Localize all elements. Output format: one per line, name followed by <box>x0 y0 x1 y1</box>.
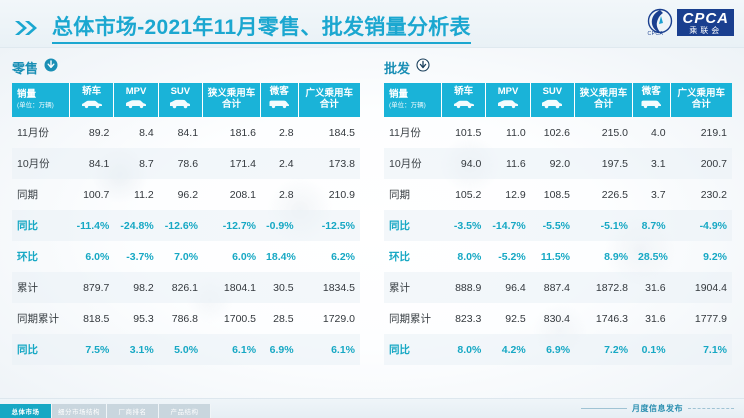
row-label: 11月份 <box>384 117 442 148</box>
table-cell: 8.4 <box>114 117 158 148</box>
panel-label-wholesale: 批发 <box>384 55 732 79</box>
table-cell: 96.2 <box>159 179 203 210</box>
header-cell-minivan: 微客 <box>261 83 299 117</box>
table-cell: 12.9 <box>486 179 530 210</box>
table-cell: -5.2% <box>486 241 530 272</box>
row-label: 同期累计 <box>12 303 70 334</box>
table-cell: 84.1 <box>70 148 114 179</box>
table-cell: 818.5 <box>70 303 114 334</box>
table-cell: 30.5 <box>261 272 299 303</box>
header-cell-broad-pv: 广义乘用车 合计 <box>299 83 360 117</box>
header-narrow-pv-title2: 合计 <box>222 99 241 110</box>
table-cell: 2.4 <box>261 148 299 179</box>
header-sedan-title: 轿车 <box>82 87 101 98</box>
row-label: 10月份 <box>12 148 70 179</box>
header-cell-suv: SUV <box>531 83 575 117</box>
table-cell: 888.9 <box>442 272 486 303</box>
table-cell: 11.5% <box>531 241 575 272</box>
table-row: 同期累计818.595.3786.81700.528.51729.0 <box>12 303 360 334</box>
table-row: 同期累计823.392.5830.41746.331.61777.9 <box>384 303 732 334</box>
suv-icon <box>167 99 193 113</box>
header-band: 总体市场-2021年11月零售、批发销量分析表 CPCA CPCA 乘联会 <box>0 0 744 48</box>
table-cell: -12.5% <box>299 210 360 241</box>
table-cell: 181.6 <box>203 117 261 148</box>
table-cell: 3.7 <box>633 179 671 210</box>
table-cell: 98.2 <box>114 272 158 303</box>
table-cell: 31.6 <box>633 272 671 303</box>
table-cell: -14.7% <box>486 210 530 241</box>
table-row: 同期100.711.296.2208.12.8210.9 <box>12 179 360 210</box>
table-row: 10月份94.011.692.0197.53.1200.7 <box>384 148 732 179</box>
table-cell: -11.4% <box>70 210 114 241</box>
table-row: 同比8.0%4.2%6.9%7.2%0.1%7.1% <box>384 334 732 365</box>
table-cell: 4.2% <box>486 334 530 365</box>
table-cell: 1700.5 <box>203 303 261 334</box>
table-cell: 84.1 <box>159 117 203 148</box>
footer-band: 总体市场细分市场结构厂商排名产品结构 月度信息发布 <box>0 398 744 418</box>
table-cell: 28.5 <box>261 303 299 334</box>
table-retail: 销量 (单位：万辆) 轿车 <box>12 83 360 365</box>
row-label: 同期 <box>12 179 70 210</box>
table-cell: 5.0% <box>159 334 203 365</box>
row-label: 累计 <box>12 272 70 303</box>
table-cell: 826.1 <box>159 272 203 303</box>
footer-tab[interactable]: 厂商排名 <box>107 404 159 418</box>
row-label: 同期累计 <box>384 303 442 334</box>
table-cell: 7.5% <box>70 334 114 365</box>
table-cell: 105.2 <box>442 179 486 210</box>
table-row: 同比-3.5%-14.7%-5.5%-5.1%8.7%-4.9% <box>384 210 732 241</box>
header-sedan-title: 轿车 <box>454 87 473 98</box>
header-cell-minivan: 微客 <box>633 83 671 117</box>
table-cell: -3.7% <box>114 241 158 272</box>
page-title: 总体市场-2021年11月零售、批发销量分析表 <box>14 11 471 44</box>
table-cell: -0.9% <box>261 210 299 241</box>
table-cell: 94.0 <box>442 148 486 179</box>
table-row: 同期105.212.9108.5226.53.7230.2 <box>384 179 732 210</box>
table-cell: -12.6% <box>159 210 203 241</box>
table-row: 11月份89.28.484.1181.62.8184.5 <box>12 117 360 148</box>
cpca-chinese-name: 乘联会 <box>689 27 722 35</box>
table-row: 10月份84.18.778.6171.42.4173.8 <box>12 148 360 179</box>
table-cell: 3.1% <box>114 334 158 365</box>
table-cell: 9.2% <box>671 241 732 272</box>
header-broad-pv-title: 广义乘用车 <box>306 88 354 99</box>
header-cell-suv: SUV <box>159 83 203 117</box>
table-cell: 219.1 <box>671 117 732 148</box>
table-cell: 7.1% <box>671 334 732 365</box>
table-row: 11月份101.511.0102.6215.04.0219.1 <box>384 117 732 148</box>
table-cell: 6.0% <box>203 241 261 272</box>
sedan-icon <box>79 99 105 113</box>
footer-tab[interactable]: 总体市场 <box>0 404 52 418</box>
header-broad-pv-title2: 合计 <box>692 99 711 110</box>
table-row: 环比8.0%-5.2%11.5%8.9%28.5%9.2% <box>384 241 732 272</box>
table-cell: 786.8 <box>159 303 203 334</box>
table-cell: 7.0% <box>159 241 203 272</box>
table-cell: 28.5% <box>633 241 671 272</box>
table-cell: 6.1% <box>299 334 360 365</box>
table-cell: 830.4 <box>531 303 575 334</box>
row-label: 同期 <box>384 179 442 210</box>
cpca-logo-block: CPCA 乘联会 <box>677 9 734 36</box>
row-label: 环比 <box>384 241 442 272</box>
header-suv-title: SUV <box>171 87 191 98</box>
table-cell: 6.2% <box>299 241 360 272</box>
header-cell-sales: 销量 (单位：万辆) <box>12 83 70 117</box>
table-cell: 1904.4 <box>671 272 732 303</box>
row-label: 同比 <box>12 210 70 241</box>
minivan-icon <box>638 99 664 113</box>
header-cell-narrow-pv: 狭义乘用车 合计 <box>203 83 261 117</box>
circle-arrow-down-icon[interactable] <box>44 58 58 77</box>
circle-arrow-down-icon[interactable] <box>416 58 430 77</box>
table-cell: -5.1% <box>575 210 633 241</box>
table-cell: 92.0 <box>531 148 575 179</box>
header-cell-sedan: 轿车 <box>70 83 114 117</box>
row-label: 同比 <box>384 210 442 241</box>
table-cell: 89.2 <box>70 117 114 148</box>
table-cell: 1729.0 <box>299 303 360 334</box>
mpv-icon <box>123 99 149 113</box>
table-cell: 171.4 <box>203 148 261 179</box>
table-cell: 1872.8 <box>575 272 633 303</box>
table-cell: -24.8% <box>114 210 158 241</box>
page-title-text: 总体市场-2021年11月零售、批发销量分析表 <box>52 11 471 44</box>
table-cell: 102.6 <box>531 117 575 148</box>
row-label: 11月份 <box>12 117 70 148</box>
table-cell: 2.8 <box>261 117 299 148</box>
header-suv-title: SUV <box>543 87 563 98</box>
table-cell: 101.5 <box>442 117 486 148</box>
table-cell: 197.5 <box>575 148 633 179</box>
table-row: 环比6.0%-3.7%7.0%6.0%18.4%6.2% <box>12 241 360 272</box>
table-wholesale-header-row: 销量 (单位：万辆) 轿车 <box>384 83 732 117</box>
note-rule-left <box>581 408 627 409</box>
table-cell: 208.1 <box>203 179 261 210</box>
table-cell: 8.7 <box>114 148 158 179</box>
table-cell: 8.7% <box>633 210 671 241</box>
table-cell: 879.7 <box>70 272 114 303</box>
cpca-logo-icon: CPCA <box>647 8 673 36</box>
table-cell: 6.9% <box>531 334 575 365</box>
table-cell: 108.5 <box>531 179 575 210</box>
table-cell: 184.5 <box>299 117 360 148</box>
header-cell-narrow-pv: 狭义乘用车 合计 <box>575 83 633 117</box>
cpca-logo: CPCA CPCA 乘联会 <box>647 8 734 36</box>
header-narrow-pv-title: 狭义乘用车 <box>580 88 628 99</box>
header-minivan-title: 微客 <box>270 87 289 98</box>
header-cell-sales: 销量 (单位：万辆) <box>384 83 442 117</box>
tables-container: 零售 销量 (单位：万辆) <box>0 55 744 365</box>
table-cell: 18.4% <box>261 241 299 272</box>
note-rule-right <box>688 408 734 409</box>
table-cell: -3.5% <box>442 210 486 241</box>
table-cell: -12.7% <box>203 210 261 241</box>
table-retail-body: 11月份89.28.484.1181.62.8184.510月份84.18.77… <box>12 117 360 365</box>
table-cell: 96.4 <box>486 272 530 303</box>
table-cell: 6.1% <box>203 334 261 365</box>
header-sales-unit: (单位：万辆) <box>389 102 440 109</box>
table-cell: 2.8 <box>261 179 299 210</box>
header-cell-sedan: 轿车 <box>442 83 486 117</box>
panel-wholesale: 批发 销量 (单位：万辆) <box>372 55 744 365</box>
table-cell: 8.0% <box>442 241 486 272</box>
footer-note: 月度信息发布 <box>581 403 734 414</box>
header-cell-mpv: MPV <box>486 83 530 117</box>
header-cell-mpv: MPV <box>114 83 158 117</box>
mpv-icon <box>495 99 521 113</box>
table-row: 同比-11.4%-24.8%-12.6%-12.7%-0.9%-12.5% <box>12 210 360 241</box>
table-cell: 1834.5 <box>299 272 360 303</box>
panel-label-wholesale-text: 批发 <box>384 58 410 77</box>
table-cell: 887.4 <box>531 272 575 303</box>
footer-tab[interactable]: 产品结构 <box>159 404 211 418</box>
table-cell: 78.6 <box>159 148 203 179</box>
table-cell: 226.5 <box>575 179 633 210</box>
row-label: 环比 <box>12 241 70 272</box>
table-cell: 173.8 <box>299 148 360 179</box>
double-chevron-right-icon <box>14 19 44 37</box>
table-cell: 11.6 <box>486 148 530 179</box>
header-sales-title: 销量 <box>17 89 36 100</box>
suv-icon <box>539 99 565 113</box>
header-narrow-pv-title: 狭义乘用车 <box>208 88 256 99</box>
table-cell: 100.7 <box>70 179 114 210</box>
table-cell: 200.7 <box>671 148 732 179</box>
panel-label-retail-text: 零售 <box>12 58 38 77</box>
table-cell: 1804.1 <box>203 272 261 303</box>
cpca-acronym: CPCA <box>682 11 729 26</box>
table-cell: 4.0 <box>633 117 671 148</box>
header-sales-unit: (单位：万辆) <box>17 102 68 109</box>
panel-label-retail: 零售 <box>12 55 360 79</box>
table-row: 累计888.996.4887.41872.831.61904.4 <box>384 272 732 303</box>
row-label: 同比 <box>384 334 442 365</box>
table-cell: 3.1 <box>633 148 671 179</box>
table-cell: 92.5 <box>486 303 530 334</box>
table-cell: 1777.9 <box>671 303 732 334</box>
table-cell: 8.0% <box>442 334 486 365</box>
table-cell: 230.2 <box>671 179 732 210</box>
table-cell: -5.5% <box>531 210 575 241</box>
panel-retail: 零售 销量 (单位：万辆) <box>0 55 372 365</box>
table-cell: 823.3 <box>442 303 486 334</box>
table-cell: 31.6 <box>633 303 671 334</box>
row-label: 累计 <box>384 272 442 303</box>
footer-tabs: 总体市场细分市场结构厂商排名产品结构 <box>0 404 211 418</box>
header-mpv-title: MPV <box>126 87 147 98</box>
table-cell: 11.0 <box>486 117 530 148</box>
header-broad-pv-title: 广义乘用车 <box>678 88 726 99</box>
cpca-logo-sub: CPCA <box>647 31 663 37</box>
header-cell-broad-pv: 广义乘用车 合计 <box>671 83 732 117</box>
table-row: 同比7.5%3.1%5.0%6.1%6.9%6.1% <box>12 334 360 365</box>
table-cell: 6.0% <box>70 241 114 272</box>
table-cell: 7.2% <box>575 334 633 365</box>
row-label: 10月份 <box>384 148 442 179</box>
slide-root: 总体市场-2021年11月零售、批发销量分析表 CPCA CPCA 乘联会 零售 <box>0 0 744 418</box>
header-minivan-title: 微客 <box>642 87 661 98</box>
footer-tab[interactable]: 细分市场结构 <box>52 404 107 418</box>
table-cell: 215.0 <box>575 117 633 148</box>
table-cell: 95.3 <box>114 303 158 334</box>
table-cell: 210.9 <box>299 179 360 210</box>
header-broad-pv-title2: 合计 <box>320 99 339 110</box>
table-cell: 6.9% <box>261 334 299 365</box>
table-cell: 0.1% <box>633 334 671 365</box>
table-wholesale-body: 11月份101.511.0102.6215.04.0219.110月份94.01… <box>384 117 732 365</box>
table-cell: -4.9% <box>671 210 732 241</box>
table-row: 累计879.798.2826.11804.130.51834.5 <box>12 272 360 303</box>
table-cell: 8.9% <box>575 241 633 272</box>
header-mpv-title: MPV <box>498 87 519 98</box>
header-narrow-pv-title2: 合计 <box>594 99 613 110</box>
table-retail-header-row: 销量 (单位：万辆) 轿车 <box>12 83 360 117</box>
table-cell: 1746.3 <box>575 303 633 334</box>
table-wholesale: 销量 (单位：万辆) 轿车 <box>384 83 732 365</box>
sedan-icon <box>451 99 477 113</box>
footer-note-text: 月度信息发布 <box>632 403 683 414</box>
minivan-icon <box>266 99 292 113</box>
table-cell: 11.2 <box>114 179 158 210</box>
row-label: 同比 <box>12 334 70 365</box>
header-sales-title: 销量 <box>389 89 408 100</box>
